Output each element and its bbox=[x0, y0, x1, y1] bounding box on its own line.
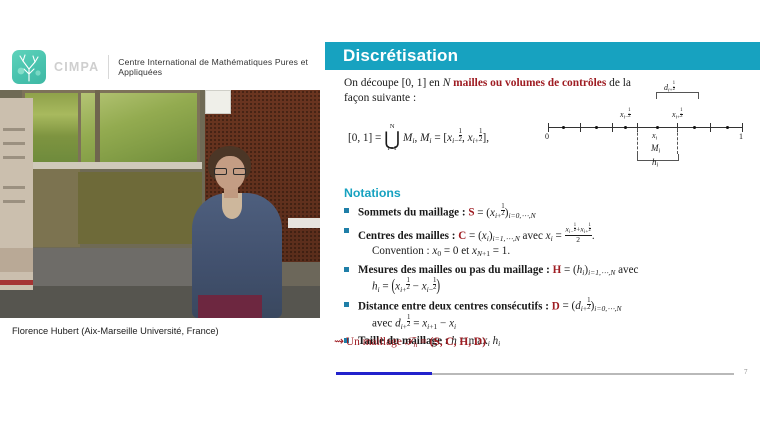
diagram-axis bbox=[548, 127, 742, 128]
diagram-label-1: 1 bbox=[739, 132, 743, 141]
item-second-line: avec di+12 = xi+1 − xi bbox=[358, 315, 744, 332]
diagram-label-right-face: xi+12 bbox=[672, 109, 683, 120]
conclusion-symbol-sub: h bbox=[414, 340, 418, 349]
diagram-tick-5 bbox=[710, 123, 711, 132]
diagram-point bbox=[595, 126, 598, 129]
intro-pre: On découpe [0, 1] en bbox=[344, 77, 443, 89]
speaker-caption: Florence Hubert (Aix-Marseille Universit… bbox=[12, 326, 219, 336]
notations-heading: Notations bbox=[344, 186, 401, 200]
speaker-glasses-icon bbox=[214, 168, 246, 175]
list-item-centres: Centres des mailles : C = (xi)i=1,⋯,N av… bbox=[344, 224, 744, 260]
diagram-point-center bbox=[656, 126, 659, 129]
brand-divider bbox=[108, 55, 109, 79]
diagram-point bbox=[693, 126, 696, 129]
item-body: = (hi)i=1,⋯,N avec bbox=[564, 264, 638, 276]
diagram-point bbox=[726, 126, 729, 129]
item-label: Distance entre deux centres consécutifs … bbox=[358, 300, 549, 312]
video-banner-graphic bbox=[0, 248, 33, 272]
diagram-tick-1 bbox=[580, 123, 581, 132]
item-body: = (xi+12)i=0,⋯,N bbox=[477, 207, 535, 219]
item-symbol: S bbox=[468, 207, 474, 219]
item-second-line: Convention : x0 = 0 et xN+1 = 1. bbox=[358, 244, 744, 259]
diagram-label-cellsize: hi bbox=[652, 157, 658, 169]
conclusion-text: Un maillage bbox=[346, 336, 402, 348]
main-equation: [0, 1] = N ⋃ i=1 Mi, Mi = [xi−12, xi+12]… bbox=[348, 124, 489, 153]
item-second-line: hi = (xi+12 − xi−12) bbox=[358, 278, 744, 295]
presentation-screenshot: CIMPA Centre International de Mathématiq… bbox=[0, 0, 760, 427]
conclusion-symbol: 𝒯 bbox=[405, 336, 414, 348]
video-wainscot bbox=[78, 172, 202, 244]
eq-comma: , bbox=[414, 132, 417, 144]
intro-var-n: N bbox=[443, 77, 451, 89]
diagram-point bbox=[624, 126, 627, 129]
speaker-panel: CIMPA Centre International de Mathématiq… bbox=[0, 0, 320, 427]
slide-title: Discrétisation bbox=[343, 46, 458, 66]
eq-equals: = bbox=[434, 132, 440, 144]
diagram-label-distance: di+12 bbox=[664, 82, 675, 93]
slide-title-bar: Discrétisation bbox=[325, 42, 760, 70]
conclusion-equals: = (S, C, H, D) bbox=[420, 336, 486, 348]
diagram-tick-2 bbox=[612, 123, 613, 132]
video-banner-stripe bbox=[0, 280, 33, 285]
item-body: = (xi)i=1,⋯,N avec xi = xi−12+xi+122. bbox=[469, 230, 595, 242]
video-table bbox=[288, 218, 320, 228]
diagram-label-left-face: xi−12 bbox=[620, 109, 631, 120]
item-label: Sommets du maillage : bbox=[358, 207, 466, 219]
eq-term2-sub: i bbox=[429, 136, 431, 145]
organization-name: Centre International de Mathématiques Pu… bbox=[118, 57, 320, 78]
progress-fill[interactable] bbox=[336, 372, 432, 375]
notations-list: Sommets du maillage : S = (xi+12)i=0,⋯,N… bbox=[344, 204, 744, 353]
video-window-mullion bbox=[95, 90, 100, 168]
diagram-tick-0 bbox=[548, 123, 549, 132]
cimpa-branding: CIMPA Centre International de Mathématiq… bbox=[0, 46, 320, 88]
diagram-point bbox=[562, 126, 565, 129]
diagram-label-cell: Mi bbox=[651, 143, 660, 155]
cimpa-tree-logo-icon bbox=[12, 50, 46, 84]
page-number: 7 bbox=[744, 368, 748, 376]
eq-lhs: [0, 1] = bbox=[348, 132, 381, 144]
slide-footer: 7 bbox=[320, 368, 760, 386]
diagram-dash-right bbox=[677, 128, 678, 154]
eq-union-operator: N ⋃ i=1 bbox=[384, 124, 400, 153]
mesh-number-line-diagram: 0 1 di+12 xi−12 xi+12 xi Mi hi bbox=[540, 82, 760, 172]
list-item-distance: Distance entre deux centres consécutifs … bbox=[344, 298, 744, 332]
cimpa-wordmark: CIMPA bbox=[54, 60, 99, 74]
diagram-tick-6 bbox=[742, 123, 743, 132]
diagram-label-0: 0 bbox=[545, 132, 549, 141]
item-label: Centres des mailles : bbox=[358, 230, 455, 242]
conclusion-line: ⇝ Un maillage 𝒯h = (S, C, H, D) bbox=[334, 334, 486, 349]
video-wall-poster bbox=[205, 90, 231, 114]
item-symbol: C bbox=[458, 230, 466, 242]
eq-interval: [xi−12, xi+12], bbox=[443, 132, 489, 144]
item-symbol: H bbox=[553, 264, 562, 276]
video-window-sill bbox=[22, 162, 202, 169]
eq-term1: M bbox=[403, 132, 412, 144]
list-item-sommets: Sommets du maillage : S = (xi+12)i=0,⋯,N bbox=[344, 204, 744, 221]
diagram-label-center: xi bbox=[652, 131, 657, 142]
speaker-trousers bbox=[198, 295, 262, 318]
item-body: = (di+12)i=0,⋯,N bbox=[563, 300, 622, 312]
eq-term2: M bbox=[420, 132, 429, 144]
diagram-dash-left bbox=[637, 128, 638, 154]
list-item-mesures: Mesures des mailles ou pas du maillage :… bbox=[344, 263, 744, 295]
item-label: Mesures des mailles ou pas du maillage : bbox=[358, 264, 550, 276]
diagram-brace-distance bbox=[656, 92, 699, 99]
squiggle-arrow-icon: ⇝ bbox=[334, 334, 343, 348]
item-symbol: D bbox=[552, 300, 560, 312]
speaker-video[interactable] bbox=[0, 90, 320, 318]
slide-area: Discrétisation On découpe [0, 1] en N ma… bbox=[320, 0, 760, 427]
